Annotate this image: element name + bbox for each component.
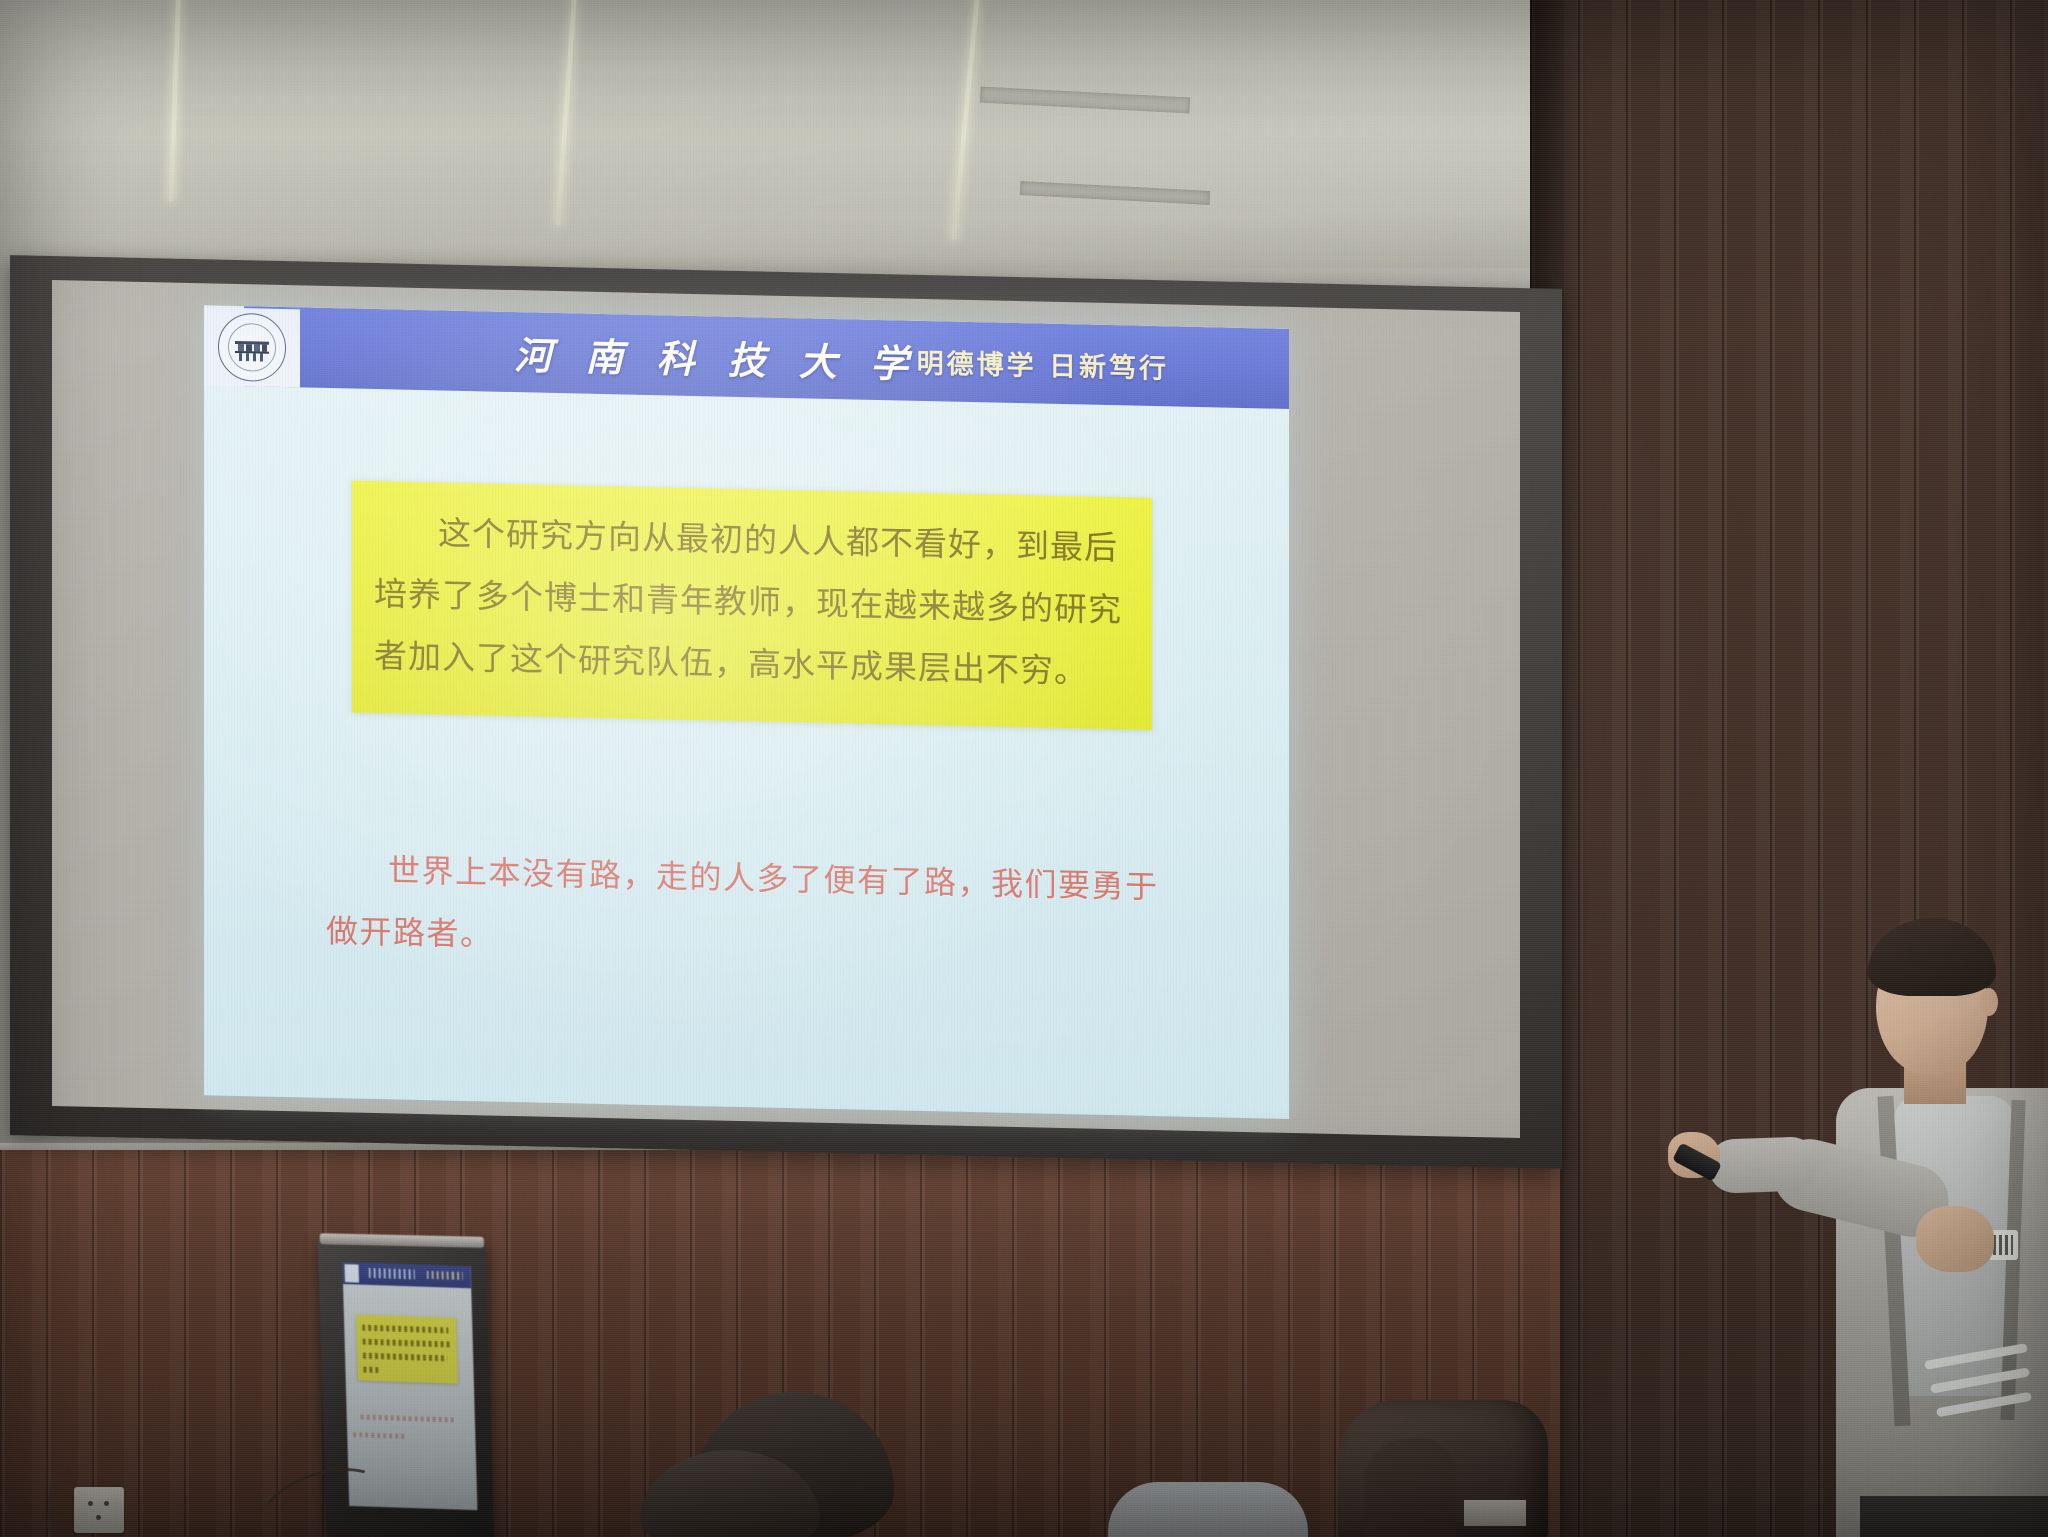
monitor-logo-icon xyxy=(345,1264,360,1282)
desk-edge xyxy=(1464,1500,1526,1526)
slide-university-title: 河 南 科 技 大 学 xyxy=(514,325,918,389)
projector-screen-surface: 河 南 科 技 大 学 明德博学 日新笃行 这个研究方向从最初的人人都不看好，到… xyxy=(52,280,1520,1138)
ceiling-light-icon xyxy=(168,0,181,202)
presenter-left-forearm xyxy=(1707,1136,1819,1194)
university-logo xyxy=(204,307,300,387)
ceiling-vent xyxy=(980,87,1191,114)
presenter xyxy=(1820,900,2048,1537)
monitor-slide-header xyxy=(342,1262,471,1288)
monitor-body-text xyxy=(353,1432,405,1439)
attendee-shoulder xyxy=(1108,1482,1308,1537)
presenter-ear xyxy=(1980,988,1998,1016)
ceiling-vent xyxy=(1020,181,1210,205)
monitor-motto-text xyxy=(427,1271,463,1280)
building-icon xyxy=(233,335,271,362)
ceiling-light-icon xyxy=(951,0,980,240)
projector-screen-frame: 河 南 科 技 大 学 明德博学 日新笃行 这个研究方向从最初的人人都不看好，到… xyxy=(10,255,1562,1169)
slide-highlight-block: 这个研究方向从最初的人人都不看好，到最后培养了多个博士和青年教师，现在越来越多的… xyxy=(352,481,1152,730)
ceiling-light-icon xyxy=(555,0,577,226)
wall-outlet xyxy=(74,1487,124,1533)
slide-header-bar: 河 南 科 技 大 学 明德博学 日新笃行 xyxy=(244,306,1289,409)
presenter-hair xyxy=(1868,918,1996,996)
slide-highlight-text: 这个研究方向从最初的人人都不看好，到最后培养了多个博士和青年教师，现在越来越多的… xyxy=(374,501,1130,703)
seal-icon xyxy=(218,313,286,382)
projected-slide: 河 南 科 技 大 学 明德博学 日新笃行 这个研究方向从最初的人人都不看好，到… xyxy=(204,305,1289,1119)
slide-body-text: 世界上本没有路，走的人多了便有了路，我们要勇于做开路者。 xyxy=(326,838,1186,981)
monitor-title-text xyxy=(369,1268,415,1280)
monitor-highlight-block xyxy=(356,1314,458,1383)
slide-university-motto: 明德博学 日新笃行 xyxy=(917,341,1169,386)
presenter-trousers xyxy=(1860,1496,2048,1537)
monitor-body-text xyxy=(361,1414,455,1422)
presentation-photo-scene: 河 南 科 技 大 学 明德博学 日新笃行 这个研究方向从最初的人人都不看好，到… xyxy=(0,0,2048,1537)
presenter-right-hand xyxy=(1916,1206,1994,1272)
